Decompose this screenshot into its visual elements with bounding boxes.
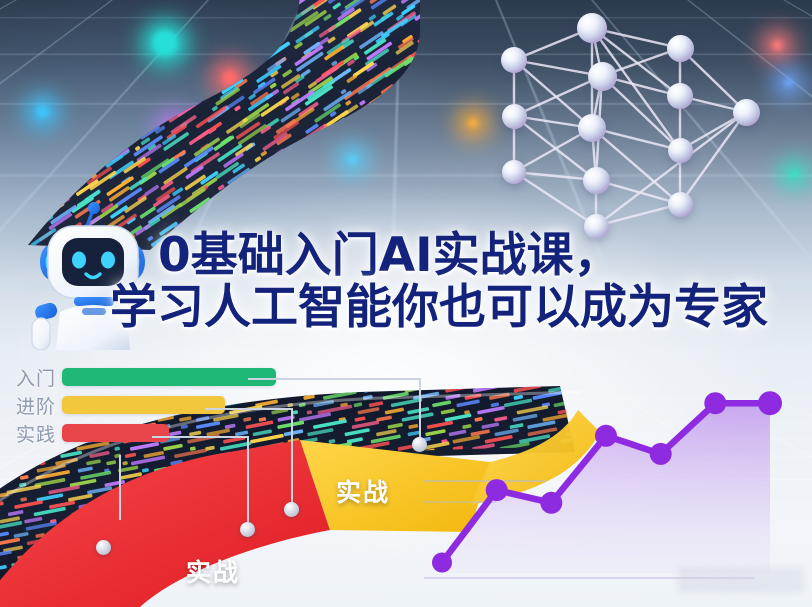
code-token <box>309 587 339 596</box>
code-token <box>294 579 326 589</box>
neural-node <box>583 167 610 194</box>
code-token <box>379 574 402 582</box>
code-token <box>148 509 168 516</box>
code-token <box>271 511 283 517</box>
code-token <box>152 566 176 574</box>
code-token <box>71 511 82 517</box>
code-token <box>235 515 264 524</box>
code-token <box>330 379 345 385</box>
code-token <box>194 485 225 494</box>
code-token <box>373 554 388 560</box>
neural-node <box>668 138 693 163</box>
skill-label-beginner: 入门 <box>16 364 62 391</box>
code-token <box>406 496 420 502</box>
code-token <box>197 519 203 524</box>
chart-point <box>595 425 617 447</box>
code-token <box>126 575 142 581</box>
code-token <box>330 565 362 575</box>
code-token <box>106 515 131 523</box>
code-token <box>68 518 78 523</box>
code-token <box>23 582 40 589</box>
code-token <box>387 510 400 516</box>
code-token <box>241 536 273 546</box>
code-token <box>301 379 319 386</box>
code-token <box>405 582 422 589</box>
code-token <box>6 588 30 596</box>
code-token <box>55 533 63 538</box>
code-token <box>115 591 123 596</box>
code-token <box>107 504 114 509</box>
headline-line-2: 学习人工智能你也可以成为专家 <box>110 284 788 332</box>
code-token <box>91 577 97 582</box>
code-token <box>103 537 131 546</box>
code-token <box>271 521 306 531</box>
code-token <box>352 376 382 385</box>
code-token <box>368 538 388 545</box>
code-token <box>232 547 242 552</box>
neural-node <box>668 192 693 217</box>
code-token <box>37 591 46 596</box>
neural-node <box>577 13 607 43</box>
code-token <box>368 566 395 575</box>
code-token <box>204 539 217 545</box>
code-token <box>134 480 155 488</box>
code-token <box>203 529 233 538</box>
code-token <box>63 561 78 567</box>
bokeh-dot <box>167 122 179 134</box>
code-token <box>161 582 180 589</box>
code-token <box>409 576 423 582</box>
code-token <box>281 567 302 574</box>
code-token <box>125 510 139 516</box>
code-token <box>177 511 188 517</box>
code-token <box>87 486 113 494</box>
code-token <box>406 504 413 509</box>
code-token <box>364 383 396 393</box>
code-token <box>333 545 354 552</box>
code-token <box>123 528 157 538</box>
band-label-yellow: 实战 <box>336 473 390 509</box>
code-token <box>398 515 425 524</box>
code-token <box>396 559 423 568</box>
neural-node <box>667 35 694 62</box>
code-token <box>123 502 142 509</box>
code-token <box>307 568 322 574</box>
code-token <box>35 533 45 538</box>
code-token <box>276 557 310 567</box>
code-token <box>0 383 6 393</box>
code-token <box>0 565 7 575</box>
code-token <box>229 499 262 509</box>
code-token <box>266 555 275 560</box>
code-token <box>214 504 222 509</box>
code-token <box>87 558 115 567</box>
code-token <box>0 581 12 589</box>
skill-track-beginner <box>62 368 276 386</box>
neural-node <box>501 47 527 73</box>
skill-label-intermediate: 进阶 <box>16 392 62 419</box>
skill-row-intermediate: 进阶 <box>16 394 276 416</box>
code-token <box>85 552 106 560</box>
code-token <box>276 385 297 393</box>
code-token <box>20 497 27 502</box>
code-token <box>17 553 33 560</box>
code-token <box>395 537 420 545</box>
code-token <box>0 521 22 531</box>
code-token <box>192 591 200 596</box>
code-token <box>304 388 313 393</box>
chart-point <box>758 391 782 415</box>
code-token <box>327 497 336 502</box>
code-token <box>14 532 29 538</box>
code-token <box>0 501 4 509</box>
skill-fill-beginner <box>62 368 276 386</box>
code-token <box>306 573 334 582</box>
code-token <box>175 523 198 531</box>
code-token <box>49 543 81 553</box>
code-token <box>303 516 323 523</box>
code-token <box>238 582 259 589</box>
code-token <box>50 591 60 596</box>
code-token <box>78 502 95 509</box>
code-token <box>392 524 410 531</box>
code-token <box>262 580 291 589</box>
code-token <box>3 545 23 552</box>
skill-row-beginner: 入门 <box>16 366 276 388</box>
code-token <box>302 551 333 560</box>
code-token <box>282 486 310 495</box>
code-token <box>239 568 254 574</box>
callout-dot-3 <box>240 522 255 537</box>
code-token <box>160 483 166 487</box>
callout-dot-4 <box>96 540 111 555</box>
code-token <box>87 522 116 531</box>
code-token <box>138 544 163 552</box>
code-token <box>173 499 206 509</box>
band-label-red: 实战 <box>186 553 240 589</box>
code-token <box>232 495 251 502</box>
code-token <box>371 561 386 567</box>
code-token <box>370 531 391 538</box>
code-token <box>138 517 156 524</box>
code-token <box>0 516 20 523</box>
code-token <box>319 540 327 545</box>
code-token <box>338 581 361 589</box>
code-token <box>286 380 298 386</box>
code-token <box>299 499 334 509</box>
callout-dot-2 <box>284 502 299 517</box>
code-token <box>122 525 137 531</box>
code-token <box>276 574 297 582</box>
code-token <box>39 561 53 567</box>
code-token <box>19 482 27 487</box>
code-token <box>1 573 30 582</box>
code-token <box>25 521 57 531</box>
code-token <box>320 383 352 393</box>
code-token <box>36 577 43 582</box>
code-token <box>258 568 272 574</box>
code-token <box>6 484 41 494</box>
bokeh-dot <box>784 78 793 87</box>
code-token <box>198 545 221 553</box>
code-token <box>253 560 271 567</box>
code-token <box>330 515 355 523</box>
code-token <box>145 576 159 582</box>
skill-track-intermediate <box>62 396 276 414</box>
code-token <box>242 523 263 530</box>
code-token <box>141 550 175 560</box>
code-token <box>252 547 263 552</box>
neural-node <box>667 83 693 109</box>
code-token <box>356 522 383 531</box>
code-token <box>33 507 66 517</box>
code-token <box>78 538 98 545</box>
code-token <box>36 493 63 502</box>
code-token <box>27 536 56 545</box>
neural-node <box>733 99 760 126</box>
bokeh-dot <box>790 170 798 178</box>
code-token <box>50 572 81 581</box>
code-token <box>292 493 318 502</box>
code-token <box>215 480 234 487</box>
code-token <box>154 560 173 567</box>
code-token <box>337 524 353 531</box>
code-token <box>287 510 301 516</box>
skill-row-practice: 实践 <box>16 422 276 444</box>
neural-node <box>502 160 526 184</box>
code-token <box>331 537 357 545</box>
chart-point <box>486 479 508 501</box>
code-token <box>109 533 120 539</box>
skill-track-practice <box>62 424 276 442</box>
code-token <box>115 566 141 575</box>
code-token <box>149 524 167 531</box>
code-token <box>87 584 97 589</box>
bokeh-dot <box>152 30 178 56</box>
code-token <box>206 591 218 597</box>
code-token <box>160 487 183 495</box>
code-token <box>242 530 268 538</box>
neural-node <box>578 114 606 142</box>
bokeh-dot <box>222 70 238 86</box>
code-token <box>279 503 291 509</box>
skill-fill-intermediate <box>62 396 225 414</box>
code-token <box>317 558 346 567</box>
neural-network-icon <box>484 4 784 236</box>
neural-node <box>502 104 527 129</box>
code-token <box>0 378 14 385</box>
code-token <box>278 535 312 545</box>
code-token <box>168 589 190 597</box>
code-token <box>47 567 69 575</box>
code-token <box>30 547 42 553</box>
code-token <box>274 546 291 553</box>
code-token <box>387 380 400 386</box>
code-token <box>0 538 20 546</box>
code-token <box>211 519 217 524</box>
code-token <box>76 564 110 574</box>
code-token <box>265 504 274 509</box>
code-token <box>124 562 134 567</box>
code-token <box>294 543 328 553</box>
code-token <box>11 560 29 567</box>
code-token <box>57 552 82 560</box>
bokeh-dot <box>468 118 478 128</box>
code-token <box>391 504 400 509</box>
code-token <box>165 528 198 538</box>
code-token <box>160 514 193 524</box>
code-token <box>68 494 93 502</box>
code-token <box>137 562 147 567</box>
code-token <box>104 480 125 487</box>
code-token <box>167 537 194 546</box>
code-token <box>64 524 81 531</box>
code-token <box>272 516 294 524</box>
skill-label-practice: 实践 <box>16 420 62 447</box>
bokeh-dot <box>36 105 49 118</box>
code-token <box>396 547 406 552</box>
code-token <box>402 479 425 487</box>
code-token <box>89 548 97 553</box>
code-token <box>24 517 43 524</box>
code-token <box>194 507 225 516</box>
code-token <box>49 501 75 510</box>
code-token <box>0 492 9 502</box>
chart-point <box>432 553 452 573</box>
code-token <box>50 519 57 524</box>
code-token <box>281 555 288 560</box>
code-token <box>202 482 212 487</box>
code-token <box>176 481 193 488</box>
code-token <box>261 493 287 502</box>
code-token <box>291 555 300 560</box>
code-token <box>294 529 323 538</box>
code-token <box>353 562 363 567</box>
bokeh-dot <box>348 155 357 164</box>
code-token <box>47 580 76 589</box>
code-token <box>270 587 300 596</box>
poster-canvas: 0基础入门AI实战课， 学习人工智能你也可以成为专家 入门 进阶 实践 <box>0 0 812 607</box>
code-token <box>105 544 131 552</box>
code-token <box>247 574 268 582</box>
code-token <box>215 496 226 502</box>
code-token <box>168 548 176 553</box>
code-token <box>112 553 133 560</box>
code-token <box>391 586 426 596</box>
code-token <box>341 573 368 582</box>
code-token <box>326 528 359 538</box>
code-token <box>262 489 272 494</box>
code-token <box>87 507 116 516</box>
headline-line-1: 0基础入门AI实战课， <box>158 232 788 280</box>
chart-point <box>650 443 672 465</box>
code-token <box>61 540 72 546</box>
code-token <box>239 552 261 560</box>
code-token <box>8 510 24 517</box>
code-token <box>74 530 97 538</box>
code-token <box>122 485 153 494</box>
code-token <box>364 579 397 589</box>
code-token <box>391 553 410 560</box>
code-token <box>220 518 229 523</box>
code-token <box>203 521 237 531</box>
code-token <box>351 587 382 596</box>
code-token <box>186 493 212 501</box>
code-token <box>260 480 277 487</box>
code-token <box>142 492 174 502</box>
code-token <box>39 554 50 560</box>
chart-point <box>540 492 562 514</box>
skill-progress-list: 入门 进阶 实践 <box>16 366 276 450</box>
neural-node <box>588 62 617 91</box>
code-token <box>128 587 159 596</box>
code-token <box>237 481 252 487</box>
code-token <box>89 518 102 524</box>
code-token <box>100 492 131 501</box>
blurred-watermark <box>678 567 804 593</box>
code-token <box>0 550 12 560</box>
code-token <box>364 544 389 552</box>
code-token <box>134 582 151 589</box>
code-token <box>163 576 177 582</box>
code-token <box>404 568 417 574</box>
code-token <box>0 531 9 538</box>
chart-point <box>704 392 726 414</box>
code-token <box>317 489 327 494</box>
code-token <box>48 485 80 495</box>
code-token <box>140 538 161 545</box>
skill-fill-practice <box>62 424 169 442</box>
code-token <box>343 552 365 560</box>
code-token <box>236 488 252 495</box>
code-token <box>104 581 127 589</box>
code-token <box>314 524 332 531</box>
code-token <box>70 586 105 596</box>
page-title: 0基础入门AI实战课， 学习人工智能你也可以成为专家 <box>158 232 788 332</box>
code-token <box>150 503 165 509</box>
code-token <box>186 548 195 553</box>
code-token <box>355 509 377 517</box>
code-token <box>14 500 43 509</box>
code-token <box>361 515 388 524</box>
code-token <box>12 566 39 575</box>
code-token <box>108 575 124 581</box>
code-token <box>237 507 268 516</box>
code-token <box>276 533 283 538</box>
code-token <box>222 539 235 545</box>
